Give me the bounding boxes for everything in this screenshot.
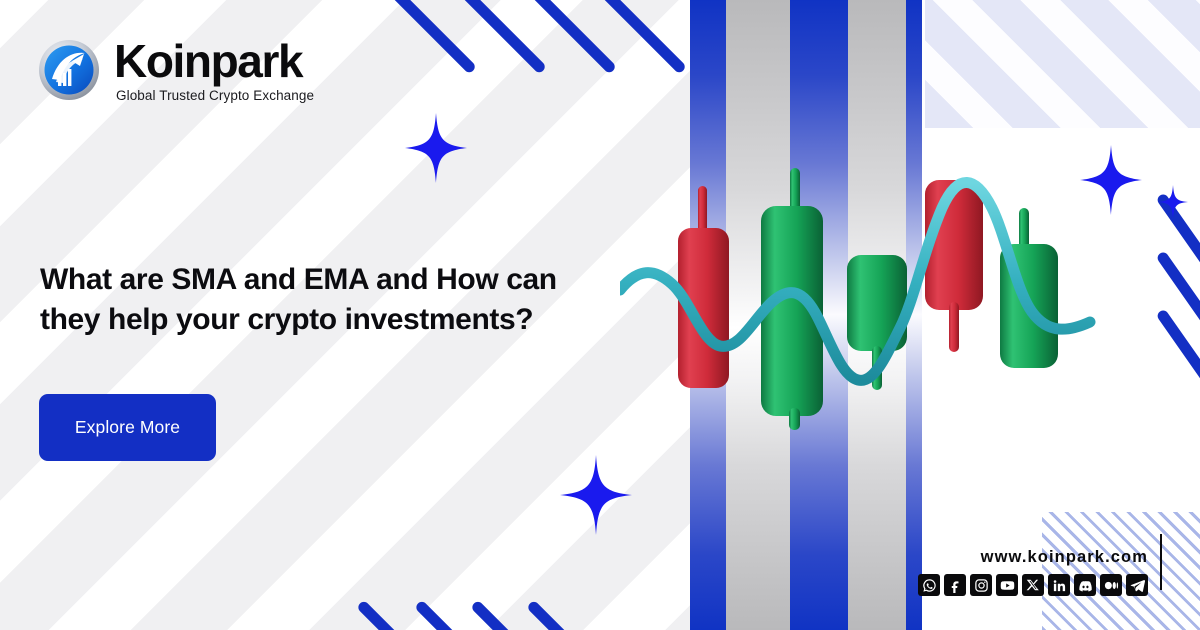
brand-name: Koinpark bbox=[114, 38, 314, 86]
hatch-block-top-right bbox=[925, 0, 1200, 128]
promo-banner: Koinpark Global Trusted Crypto Exchange … bbox=[0, 0, 1200, 630]
website-url[interactable]: www.koinpark.com bbox=[981, 548, 1148, 567]
koinpark-globe-icon bbox=[38, 39, 100, 101]
candlestick-illustration bbox=[620, 150, 1120, 440]
whatsapp-icon[interactable] bbox=[918, 574, 940, 596]
brand-logo[interactable]: Koinpark Global Trusted Crypto Exchange bbox=[38, 38, 314, 103]
discord-icon[interactable] bbox=[1074, 574, 1096, 596]
sparkle-icon bbox=[405, 113, 467, 183]
sparkle-icon bbox=[560, 455, 632, 535]
youtube-icon[interactable] bbox=[996, 574, 1018, 596]
facebook-icon[interactable] bbox=[944, 574, 966, 596]
explore-more-button[interactable]: Explore More bbox=[39, 394, 216, 461]
footer: www.koinpark.com bbox=[918, 548, 1148, 596]
sparkle-icon bbox=[1158, 185, 1188, 219]
footer-divider bbox=[1160, 534, 1162, 590]
brand-tagline: Global Trusted Crypto Exchange bbox=[116, 88, 314, 103]
social-links bbox=[918, 574, 1148, 596]
medium-icon[interactable] bbox=[1100, 574, 1122, 596]
linkedin-icon[interactable] bbox=[1048, 574, 1070, 596]
x-twitter-icon[interactable] bbox=[1022, 574, 1044, 596]
instagram-icon[interactable] bbox=[970, 574, 992, 596]
telegram-icon[interactable] bbox=[1126, 574, 1148, 596]
page-title: What are SMA and EMA and How can they he… bbox=[40, 260, 620, 339]
